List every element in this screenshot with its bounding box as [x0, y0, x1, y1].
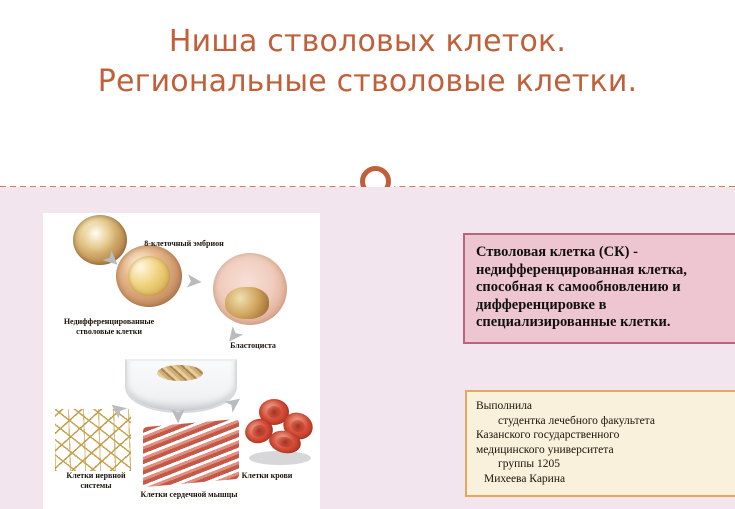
blood-cells-graphic: [239, 399, 315, 461]
label-nerve-cells: Клетки нервной системы: [49, 471, 143, 491]
slide-header: Ниша стволовых клеток. Региональные ство…: [0, 0, 735, 187]
shadow-graphic: [249, 451, 311, 465]
eight-cell-embryo-graphic: [116, 245, 182, 307]
label-blastocyst: Бластоциста: [203, 341, 303, 351]
author-credits-box: Выполнила студентка лечебного факультета…: [465, 390, 735, 497]
petri-dish-graphic: [125, 359, 237, 413]
author-line-name: Михеева Карина: [476, 472, 735, 487]
author-line-group: группы 1205: [476, 457, 735, 472]
author-line-university-1: Казанского государственного: [476, 428, 735, 443]
blastocyst-graphic: [213, 253, 287, 325]
stem-cell-differentiation-diagram: ➤ ➤ ➤ ➤ ➤ ➤ 8-клеточный эмбрион Недиффер…: [43, 213, 320, 509]
slide-body: ➤ ➤ ➤ ➤ ➤ ➤ 8-клеточный эмбрион Недиффер…: [0, 187, 735, 509]
arrow-icon: ➤: [167, 407, 188, 425]
label-cardiac-muscle-cells: Клетки сердечной мышцы: [119, 490, 259, 500]
author-line-prepared-by: Выполнила: [476, 399, 735, 414]
label-undifferentiated-stem-cells: Недифференцированные стволовые клетки: [45, 317, 173, 337]
stem-cell-definition-box: Стволовая клетка (СК) - недифференцирова…: [463, 233, 735, 344]
author-line-university-2: медицинского университета: [476, 443, 735, 458]
arrow-icon: ➤: [184, 270, 203, 292]
slide-title: Ниша стволовых клеток. Региональные ство…: [0, 22, 735, 102]
author-line-faculty: студентка лечебного факультета: [476, 414, 735, 429]
label-eight-cell-embryo: 8-клеточный эмбрион: [119, 239, 249, 249]
diagram-canvas: ➤ ➤ ➤ ➤ ➤ ➤ 8-клеточный эмбрион Недиффер…: [43, 213, 320, 509]
label-blood-cells: Клетки крови: [221, 471, 313, 481]
presentation-slide: Ниша стволовых клеток. Региональные ство…: [0, 0, 735, 509]
